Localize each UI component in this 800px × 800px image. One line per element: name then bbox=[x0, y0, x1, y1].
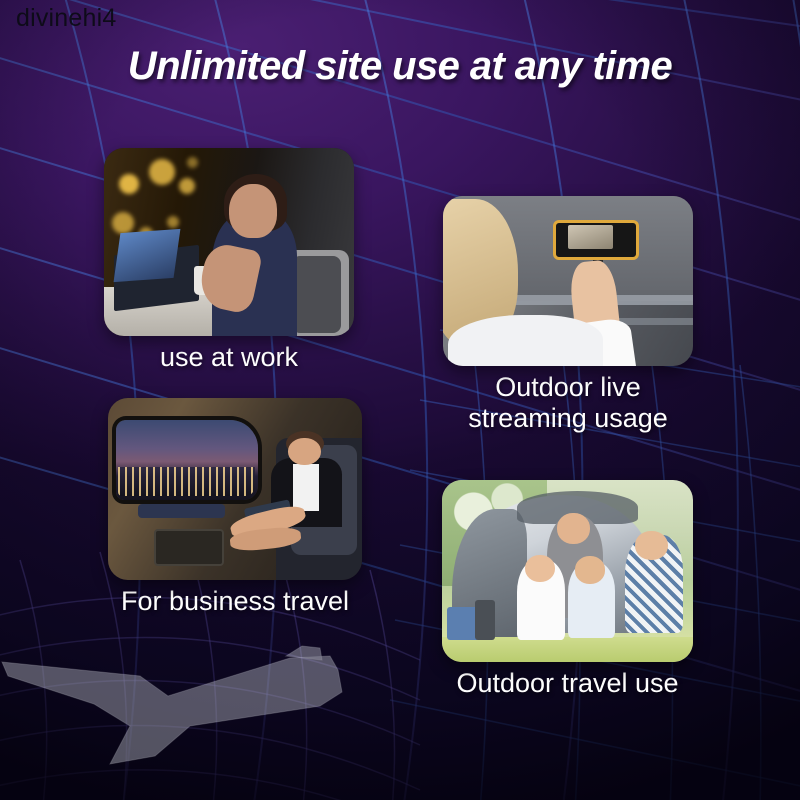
caption-use-at-work: use at work bbox=[104, 342, 354, 373]
caption-business-travel: For business travel bbox=[108, 586, 362, 617]
caption-line: streaming usage bbox=[443, 403, 693, 434]
page-title: Unlimited site use at any time bbox=[0, 44, 800, 89]
caption-line: Outdoor travel use bbox=[442, 668, 693, 699]
caption-line: use at work bbox=[104, 342, 354, 373]
feature-card-use-at-work[interactable]: use at work bbox=[104, 148, 354, 373]
photo-use-at-work bbox=[104, 148, 354, 336]
photo-business-travel bbox=[108, 398, 362, 580]
watermark-text: divinehi4 bbox=[16, 6, 116, 31]
photo-outdoor-travel bbox=[442, 480, 693, 662]
promo-banner: divinehi4 Unlimited site use at any time… bbox=[0, 0, 800, 800]
caption-line: For business travel bbox=[108, 586, 362, 617]
feature-card-outdoor-travel[interactable]: Outdoor travel use bbox=[442, 480, 693, 699]
feature-card-outdoor-live-streaming[interactable]: Outdoor live streaming usage bbox=[443, 196, 693, 434]
photo-outdoor-live-streaming bbox=[443, 196, 693, 366]
airplane-silhouette-icon bbox=[0, 630, 350, 780]
caption-outdoor-live-streaming: Outdoor live streaming usage bbox=[443, 372, 693, 434]
caption-outdoor-travel: Outdoor travel use bbox=[442, 668, 693, 699]
caption-line: Outdoor live bbox=[443, 372, 693, 403]
feature-card-business-travel[interactable]: For business travel bbox=[108, 398, 362, 617]
